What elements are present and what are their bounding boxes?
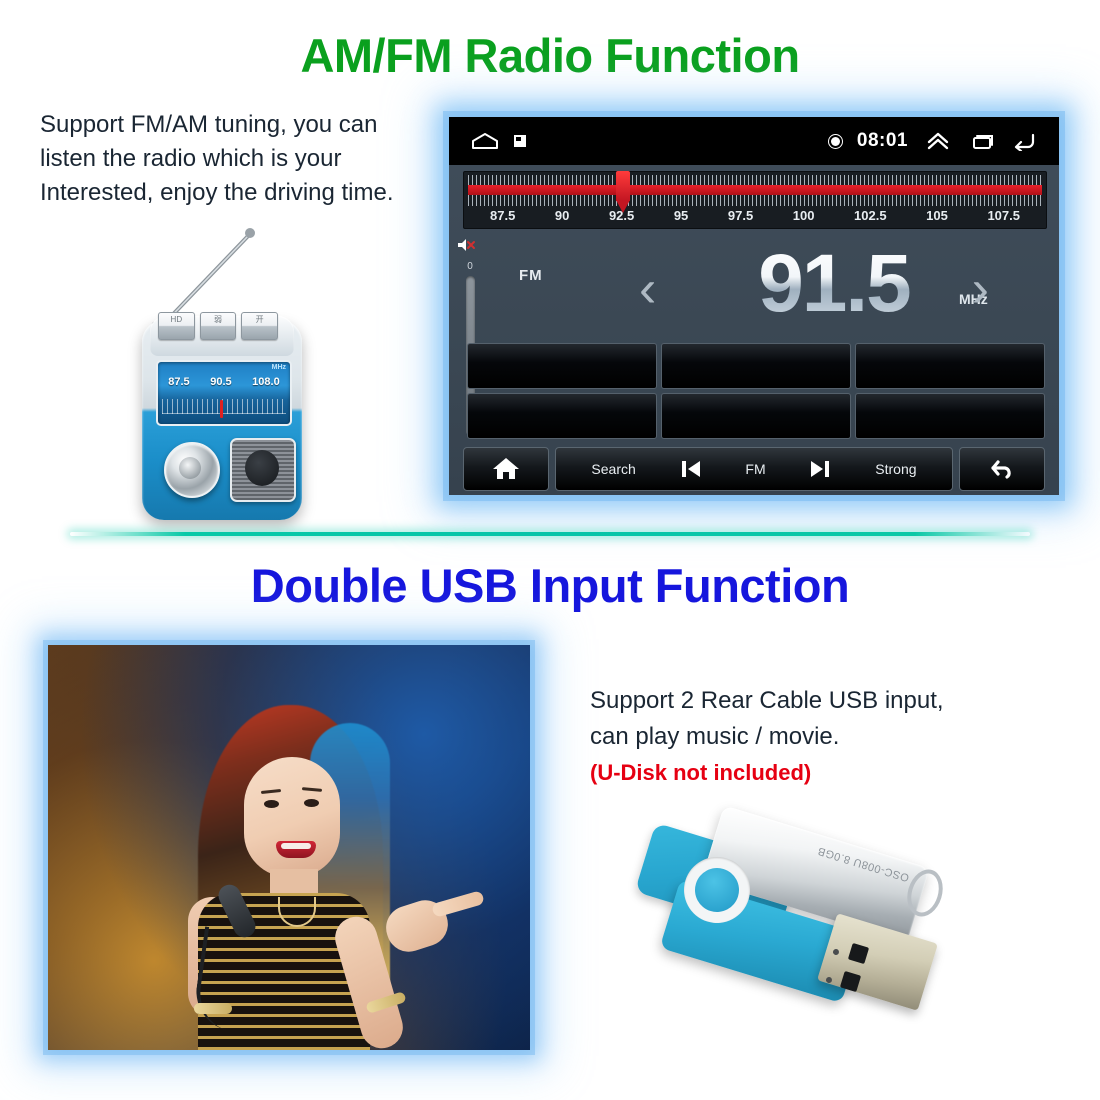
search-button[interactable]: Search: [591, 461, 635, 477]
photo-mouth: [276, 841, 316, 858]
speaker-muted-icon[interactable]: [457, 237, 477, 253]
preset-button-5[interactable]: [661, 393, 851, 439]
home-outline-icon[interactable]: [471, 132, 499, 150]
recent-apps-icon[interactable]: [968, 131, 994, 151]
section-divider: [70, 532, 1030, 536]
photo-face: [244, 757, 340, 877]
skip-previous-icon[interactable]: [679, 458, 703, 480]
head-unit-radio-screen: 08:01: [449, 117, 1059, 495]
current-frequency-value: 91.5: [699, 239, 969, 329]
dial-frequency-labels: 87.5 90.5 108.0: [158, 376, 290, 388]
preset-button-1[interactable]: [467, 343, 657, 389]
tuner-red-band: [468, 185, 1042, 195]
radio-button-row: HD 弱 开: [158, 312, 278, 340]
portable-radio-illustration: HD 弱 开 MHz 87.5 90.5 108.0: [100, 220, 340, 520]
volume-level-label: 0: [457, 261, 483, 272]
photo-pointing-finger: [431, 890, 485, 918]
radio-mini-button-hd[interactable]: HD: [158, 312, 195, 340]
sd-card-icon[interactable]: [513, 133, 527, 149]
tuner-frequency-strip[interactable]: 87.5 90 92.5 95 97.5 100 102.5 105 107.5: [463, 171, 1047, 229]
scale-tick-7: 105: [926, 208, 948, 226]
android-status-bar: 08:01: [449, 117, 1059, 165]
singer-photo-wrapper: [38, 635, 540, 1060]
scale-tick-0: 87.5: [490, 208, 515, 226]
usb-description-line-2: can play music / movie.: [590, 719, 1060, 755]
strong-button[interactable]: Strong: [875, 461, 916, 477]
preset-button-4[interactable]: [467, 393, 657, 439]
scale-tick-3: 95: [674, 208, 688, 226]
skip-next-icon[interactable]: [808, 458, 832, 480]
prev-station-chevron-icon[interactable]: ‹: [639, 261, 656, 317]
usb-flash-drive-image: OSC-008U 8.0GB: [620, 795, 990, 1055]
frequency-display-row: FM ‹ 91.5 MHz ›: [489, 243, 1049, 337]
preset-button-3[interactable]: [855, 343, 1045, 389]
chevron-double-up-icon[interactable]: [925, 131, 951, 151]
scale-tick-1: 90: [555, 208, 569, 226]
dial-label-high: 108.0: [252, 376, 280, 388]
photo-eye-left: [264, 800, 279, 808]
radio-app-body: 87.5 90 92.5 95 97.5 100 102.5 105 107.5…: [449, 165, 1059, 495]
scale-tick-5: 100: [793, 208, 815, 226]
radio-section-description: Support FM/AM tuning, you can listen the…: [40, 108, 440, 210]
return-arrow-icon: [987, 456, 1017, 482]
dial-label-low: 87.5: [168, 376, 189, 388]
status-bar-clock: 08:01: [857, 130, 908, 152]
record-dot-icon: [831, 137, 840, 146]
double-usb-section: Double USB Input Function Support 2 Rear…: [0, 540, 1100, 1100]
status-bar-right-icons: 08:01: [831, 130, 1059, 152]
photo-eye-right: [304, 799, 319, 807]
preset-button-6[interactable]: [855, 393, 1045, 439]
usb-description-line-1: Support 2 Rear Cable USB input,: [590, 683, 1060, 719]
radio-speaker-grille: [230, 438, 296, 502]
scale-tick-2: 92.5: [609, 208, 634, 226]
photo-bracelet-left: [194, 1003, 232, 1014]
usb-section-title: Double USB Input Function: [0, 558, 1100, 613]
back-arrow-icon[interactable]: [1011, 131, 1037, 151]
usb-disclaimer-note: (U-Disk not included): [590, 755, 1060, 791]
bottom-control-bar: Search FM Strong: [463, 447, 1045, 491]
scale-tick-6: 102.5: [854, 208, 887, 226]
usb-section-description: Support 2 Rear Cable USB input, can play…: [590, 683, 1060, 791]
next-station-chevron-icon[interactable]: ›: [972, 261, 989, 317]
tuner-scale-labels: 87.5 90 92.5 95 97.5 100 102.5 105 107.5: [468, 208, 1042, 226]
tuner-ticks-top: [468, 175, 1042, 185]
scale-tick-8: 107.5: [987, 208, 1020, 226]
status-bar-left-icons: [449, 132, 527, 150]
preset-buttons-grid: [467, 343, 1045, 439]
home-filled-icon: [491, 456, 521, 482]
band-toggle-button[interactable]: FM: [745, 461, 765, 477]
return-button[interactable]: [959, 447, 1045, 491]
dial-label-mid: 90.5: [210, 376, 231, 388]
band-label: FM: [519, 267, 543, 284]
radio-mini-button-3[interactable]: 开: [241, 312, 278, 340]
dial-needle: [220, 400, 223, 418]
scale-tick-4: 97.5: [728, 208, 753, 226]
dial-unit-label: MHz: [272, 364, 286, 371]
radio-section-title: AM/FM Radio Function: [0, 28, 1100, 83]
radio-dial-display: MHz 87.5 90.5 108.0: [156, 360, 292, 426]
tuner-ticks-bottom: [468, 195, 1042, 206]
dial-scale-ticks: [162, 399, 286, 414]
am-fm-radio-section: AM/FM Radio Function Support FM/AM tunin…: [0, 0, 1100, 540]
preset-button-2[interactable]: [661, 343, 851, 389]
home-button[interactable]: [463, 447, 549, 491]
singer-performing-photo: [48, 645, 530, 1050]
radio-tuning-knob[interactable]: [164, 442, 220, 498]
transport-controls: Search FM Strong: [555, 447, 953, 491]
radio-mini-button-2[interactable]: 弱: [200, 312, 237, 340]
